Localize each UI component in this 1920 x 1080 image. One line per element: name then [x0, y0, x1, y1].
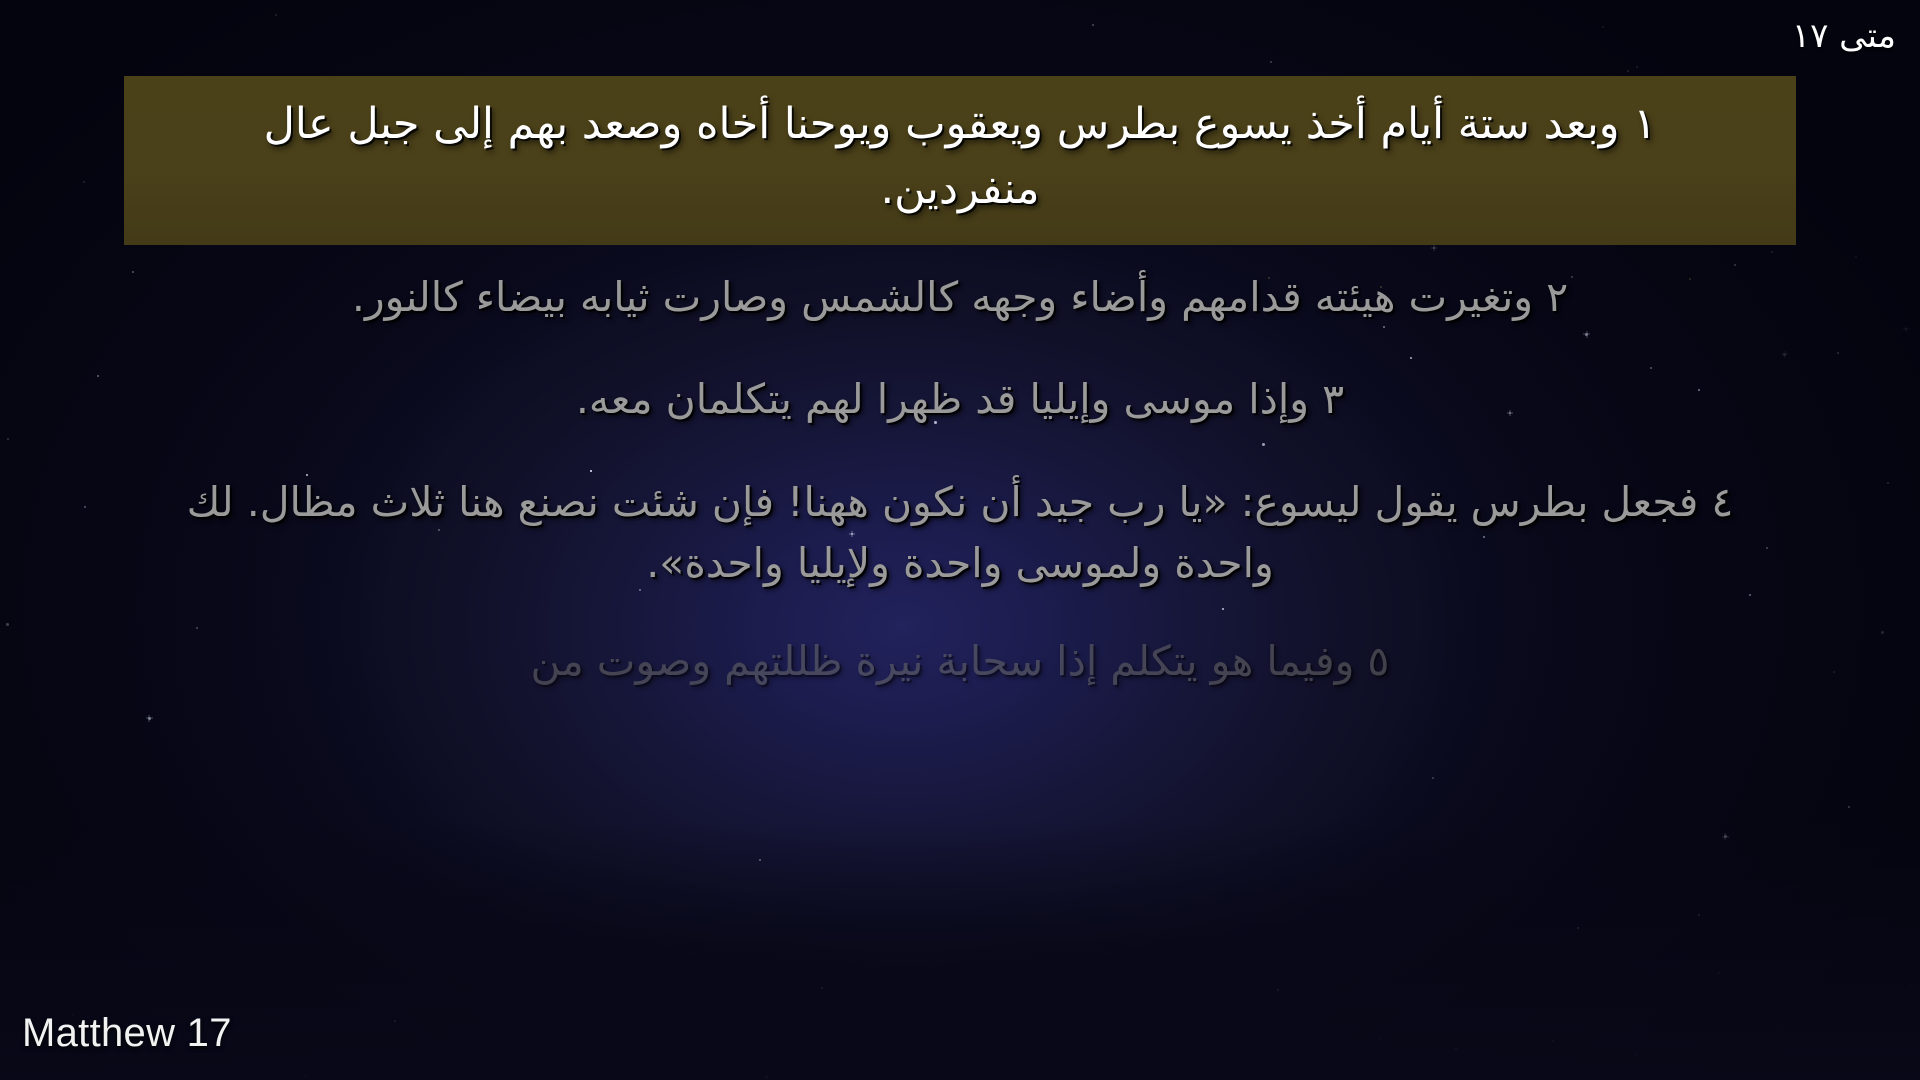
star-icon	[759, 859, 761, 861]
star-icon	[1455, 1048, 1457, 1050]
star-icon	[1432, 777, 1434, 779]
star-icon	[1887, 482, 1889, 484]
verse-1-highlighted[interactable]: ١ وبعد ستة أيام أخذ يسوع بطرس ويعقوب ويو…	[124, 76, 1796, 245]
star-icon	[1837, 352, 1839, 354]
star-icon	[275, 14, 277, 16]
star-icon	[1634, 1053, 1637, 1056]
star-icon	[1634, 1053, 1637, 1056]
star-icon	[1577, 927, 1579, 929]
star-icon	[1881, 631, 1884, 634]
star-icon	[148, 717, 151, 720]
book-chapter-label: Matthew 17	[22, 1011, 232, 1056]
star-icon	[6, 623, 9, 626]
star-icon	[83, 181, 85, 183]
star-icon	[1552, 1040, 1554, 1042]
star-icon	[7, 438, 9, 440]
star-icon	[1379, 1037, 1381, 1039]
star-icon	[1092, 24, 1094, 26]
star-icon	[1718, 972, 1720, 974]
presentation-slide: متى ١٧ ١ وبعد ستة أيام أخذ يسوع بطرس ويع…	[0, 0, 1920, 1080]
verse-4[interactable]: ٤ فجعل بطرس يقول ليسوع: «يا رب جيد أن نك…	[124, 468, 1796, 597]
star-icon	[1833, 671, 1835, 673]
star-icon	[1270, 61, 1272, 63]
star-icon	[1698, 914, 1700, 916]
verse-5[interactable]: ٥ وفيما هو يتكلم إذا سحابة نيرة ظللتهم و…	[124, 627, 1796, 696]
star-icon	[1855, 256, 1857, 258]
star-icon	[821, 987, 823, 989]
star-icon	[1455, 1048, 1457, 1050]
star-icon	[304, 1075, 307, 1078]
verse-3[interactable]: ٣ وإذا موسى وإيليا قد ظهرا لهم يتكلمان م…	[124, 365, 1796, 434]
star-icon	[1909, 985, 1912, 988]
chapter-heading: متى ١٧	[1792, 18, 1896, 55]
star-icon	[1905, 328, 1907, 330]
star-icon	[84, 506, 86, 508]
star-icon	[1909, 985, 1912, 988]
star-icon	[821, 987, 823, 989]
star-icon	[1636, 66, 1638, 68]
verse-list: ١ وبعد ستة أيام أخذ يسوع بطرس ويعقوب ويو…	[124, 76, 1796, 716]
star-icon	[304, 1075, 307, 1078]
star-icon	[1577, 927, 1579, 929]
star-icon	[1636, 66, 1638, 68]
star-icon	[1848, 806, 1850, 808]
star-icon	[1277, 989, 1279, 991]
star-icon	[394, 1020, 396, 1022]
star-icon	[765, 1076, 768, 1079]
star-icon	[1552, 1040, 1554, 1042]
bottom-fade-overlay	[0, 820, 1920, 1080]
star-icon	[1627, 70, 1629, 72]
star-icon	[1848, 806, 1850, 808]
verse-2[interactable]: ٢ وتغيرت هيئته قدامهم وأضاء وجهه كالشمس …	[124, 263, 1796, 332]
star-icon	[765, 1076, 768, 1079]
star-icon	[1602, 26, 1604, 28]
star-icon	[1724, 835, 1727, 838]
star-icon	[97, 375, 99, 377]
star-icon	[1634, 1053, 1637, 1056]
star-icon	[1602, 26, 1604, 28]
star-icon	[394, 1020, 396, 1022]
